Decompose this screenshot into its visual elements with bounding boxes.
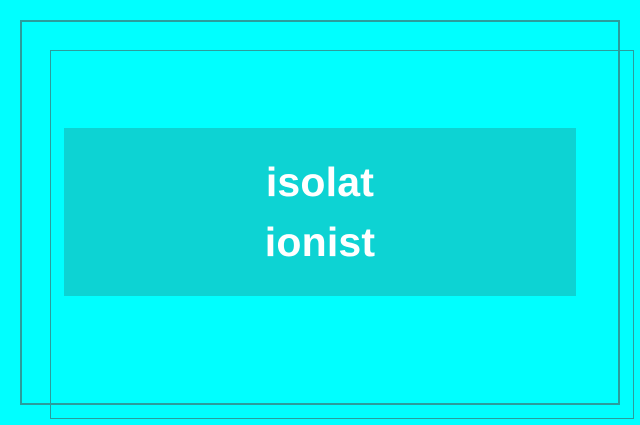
page-canvas: isolat ionist [0, 0, 640, 425]
word-display-panel: isolat ionist [64, 128, 576, 296]
word-line-1: isolat [266, 152, 374, 212]
word-line-2: ionist [265, 212, 376, 272]
